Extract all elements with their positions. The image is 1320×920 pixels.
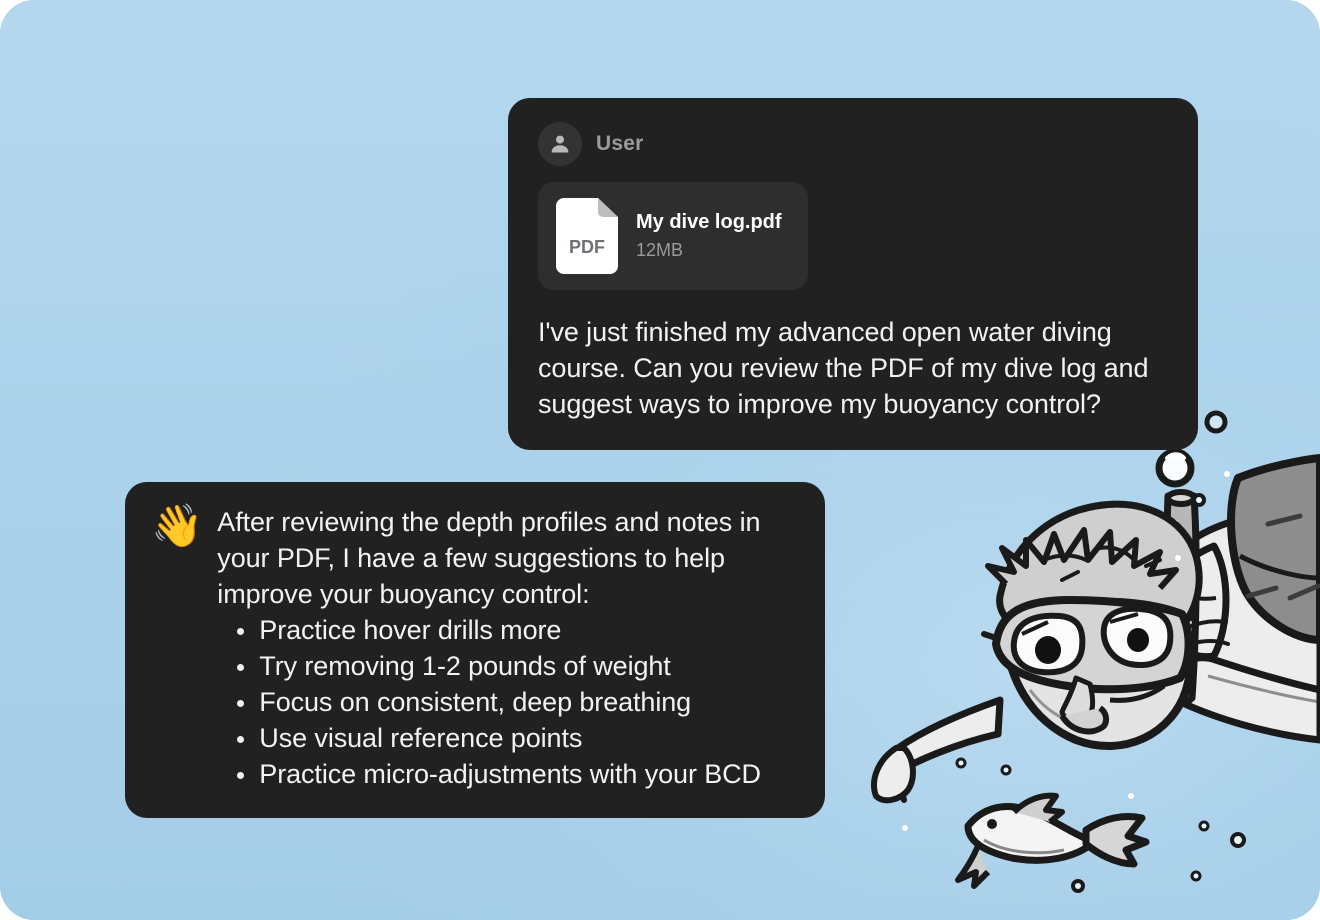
list-item: Focus on consistent, deep breathing bbox=[217, 684, 797, 720]
pdf-file-icon: PDF bbox=[556, 198, 618, 274]
svg-text:PDF: PDF bbox=[569, 237, 605, 257]
user-avatar bbox=[538, 122, 582, 166]
list-item: Practice hover drills more bbox=[217, 612, 797, 648]
list-item: Practice micro-adjustments with your BCD bbox=[217, 756, 797, 792]
assistant-message-bubble: 👋 After reviewing the depth profiles and… bbox=[125, 482, 825, 818]
chat-conversation: User PDF My dive log.pdf 12MB I've just … bbox=[0, 0, 1320, 920]
waving-hand-emoji: 👋 bbox=[151, 506, 203, 546]
user-avatar-icon bbox=[548, 132, 572, 156]
pdf-attachment-card[interactable]: PDF My dive log.pdf 12MB bbox=[538, 182, 808, 290]
user-message-bubble: User PDF My dive log.pdf 12MB I've just … bbox=[508, 98, 1198, 450]
user-message-author: User bbox=[596, 132, 644, 156]
assistant-message-intro: After reviewing the depth profiles and n… bbox=[217, 504, 797, 612]
suggestion-list: Practice hover drills more Try removing … bbox=[217, 612, 797, 792]
user-message-header: User bbox=[538, 122, 1168, 166]
screenshot-canvas: User PDF My dive log.pdf 12MB I've just … bbox=[0, 0, 1320, 920]
attachment-filesize: 12MB bbox=[636, 240, 782, 261]
list-item: Use visual reference points bbox=[217, 720, 797, 756]
list-item: Try removing 1-2 pounds of weight bbox=[217, 648, 797, 684]
attachment-filename: My dive log.pdf bbox=[636, 211, 782, 234]
user-message-text: I've just finished my advanced open wate… bbox=[538, 314, 1168, 422]
